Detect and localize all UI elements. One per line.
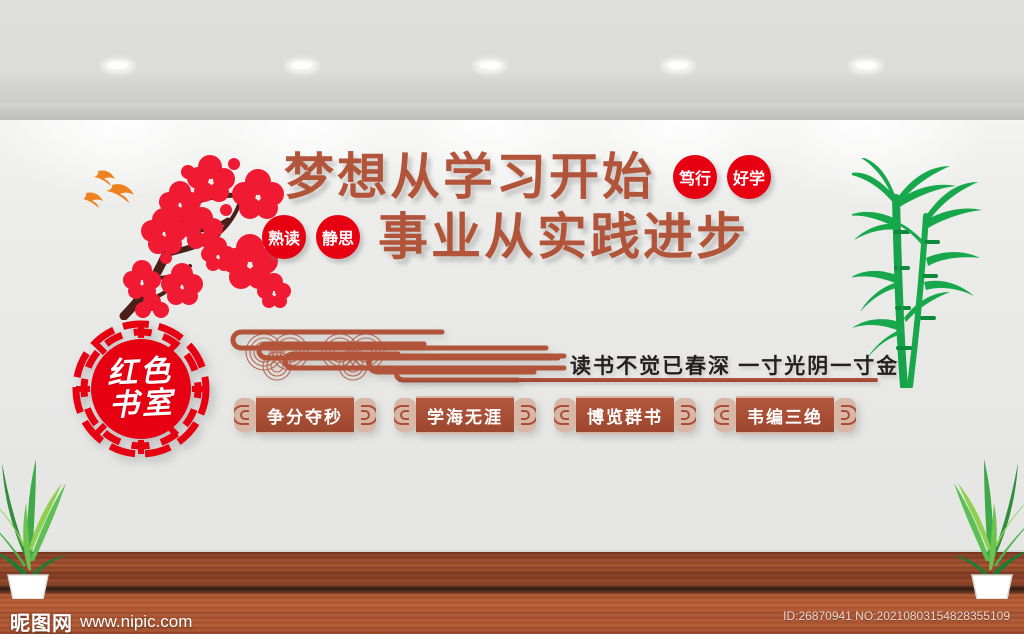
fret-cap-left-icon (714, 398, 736, 432)
headline-line-1: 梦想从学习开始 (284, 152, 655, 202)
poem-text: 读书不觉已春深 一寸光阴一寸金 (570, 350, 899, 380)
tag-plaque: 韦编三绝 (714, 398, 856, 432)
horizontal-rule (398, 378, 878, 382)
badge-duxing: 笃行 (673, 155, 717, 199)
wall-art-layer: 红色 书室 梦想从学习开始 笃行 好学 熟读 静思 事业从实践进步 (0, 0, 1024, 634)
tag-plaque-group: 争分夺秒 学海无涯 (234, 398, 856, 432)
tag-body: 学海无涯 (416, 396, 514, 434)
headline-block: 梦想从学习开始 笃行 好学 熟读 静思 事业从实践进步 (262, 152, 882, 262)
tag-label: 学海无涯 (427, 403, 503, 428)
fret-cap-right-icon (834, 398, 856, 432)
tag-label: 博览群书 (587, 403, 663, 428)
fret-cap-left-icon (554, 398, 576, 432)
tag-plaque: 博览群书 (554, 398, 696, 432)
badge-group-bottom: 熟读 静思 (262, 215, 360, 259)
headline-line-1-row: 梦想从学习开始 笃行 好学 (284, 152, 882, 202)
watermark-left: 昵图网 www.nipic.com (10, 607, 192, 634)
badge-jingsi: 静思 (316, 215, 360, 259)
badge-group-top: 笃行 好学 (673, 155, 771, 199)
fret-cap-right-icon (354, 398, 376, 432)
wall-mockup-scene: 红色 书室 梦想从学习开始 笃行 好学 熟读 静思 事业从实践进步 (0, 0, 1024, 634)
tag-label: 韦编三绝 (747, 403, 823, 428)
tag-body: 博览群书 (576, 396, 674, 434)
badge-shudu: 熟读 (262, 215, 306, 259)
headline-line-2-row: 熟读 静思 事业从实践进步 (262, 212, 882, 262)
watermark-id: ID:26870941 NO:20210803154828355109 (783, 609, 1010, 623)
fret-cap-left-icon (394, 398, 416, 432)
tag-body: 争分夺秒 (256, 396, 354, 434)
headline-line-2: 事业从实践进步 (378, 212, 749, 262)
red-round-seal (68, 316, 214, 462)
tag-body: 韦编三绝 (736, 396, 834, 434)
fret-cap-right-icon (514, 398, 536, 432)
fret-cap-left-icon (234, 398, 256, 432)
tag-plaque: 争分夺秒 (234, 398, 376, 432)
badge-haoxue: 好学 (727, 155, 771, 199)
watermark-url: www.nipic.com (80, 612, 192, 632)
tag-label: 争分夺秒 (267, 403, 343, 428)
watermark-logo: 昵图网 (10, 607, 73, 634)
tag-plaque: 学海无涯 (394, 398, 536, 432)
fret-cap-right-icon (674, 398, 696, 432)
